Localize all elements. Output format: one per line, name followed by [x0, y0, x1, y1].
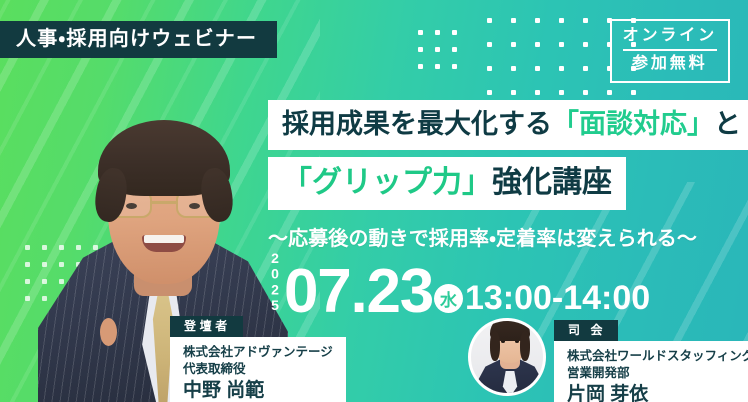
webinar-banner: 人事・採用向けウェビナー オンライン 参加無料 採用成果を最大化する「面談対応」… [0, 0, 748, 402]
speaker-brow-right [182, 186, 210, 193]
speaker-neck [134, 252, 192, 296]
subtitle: 〜応募後の動きで採用率・定着率は変えられる〜 [268, 222, 697, 251]
host-org: 株式会社ワールドスタッフィング [567, 348, 748, 365]
title-line-2-highlight: 「グリップ力」 [282, 166, 492, 199]
schedule-time: 13:00-14:00 [465, 282, 650, 314]
schedule-year: 2025 [268, 250, 282, 313]
glasses-icon [104, 190, 224, 220]
speaker-eye-right [189, 203, 200, 209]
host-avatar [468, 318, 546, 396]
speaker-org: 株式会社アドヴァンテージ [183, 344, 333, 361]
speaker-brow-left [118, 186, 146, 193]
speaker-info-card: 登壇者 株式会社アドヴァンテージ 代表取締役 中野 尚範 [170, 316, 346, 402]
speaker-eye-left [126, 203, 137, 209]
schedule-date: 07.23 [284, 267, 433, 318]
title-line-1-highlight: 「面談対応」 [552, 109, 714, 139]
badge-divider [623, 49, 717, 51]
title-line-1: 採用成果を最大化する「面談対応」と [268, 100, 748, 150]
host-hair [490, 318, 530, 341]
speaker-body: 株式会社アドヴァンテージ 代表取締役 中野 尚範 [170, 337, 346, 402]
speaker-dept: 代表取締役 [183, 361, 333, 378]
speaker-ear-left [100, 318, 117, 346]
schedule-day-badge: 水 [434, 284, 463, 313]
title-line-2: 「グリップ力」強化講座 [268, 157, 626, 210]
host-body: 株式会社ワールドスタッフィング 営業開発部 片岡 芽依 [554, 341, 748, 402]
badge-line-free: 参加無料 [623, 54, 717, 74]
host-dept: 営業開発部 [567, 365, 748, 382]
speaker-hair [98, 120, 230, 196]
schedule-row: 2025 07.23 水 13:00-14:00 [268, 250, 650, 318]
title-block: 採用成果を最大化する「面談対応」と 「グリップ力」強化講座 [268, 100, 748, 210]
host-name: 片岡 芽依 [567, 384, 748, 402]
speaker-tag: 登壇者 [170, 316, 243, 337]
speaker-mouth [142, 235, 186, 252]
title-line-1-plain-b: と [714, 109, 741, 139]
title-line-2-plain: 強化講座 [492, 166, 612, 199]
speaker-face [108, 138, 220, 284]
title-line-1-plain-a: 採用成果を最大化する [282, 109, 552, 139]
speaker-name: 中野 尚範 [183, 380, 333, 402]
host-tag: 司 会 [554, 320, 618, 341]
online-free-badge: オンライン 参加無料 [610, 19, 730, 83]
kicker-label: 人事・採用向けウェビナー [0, 21, 277, 58]
badge-line-online: オンライン [623, 26, 717, 46]
host-info-card: 司 会 株式会社ワールドスタッフィング 営業開発部 片岡 芽依 [554, 320, 748, 402]
